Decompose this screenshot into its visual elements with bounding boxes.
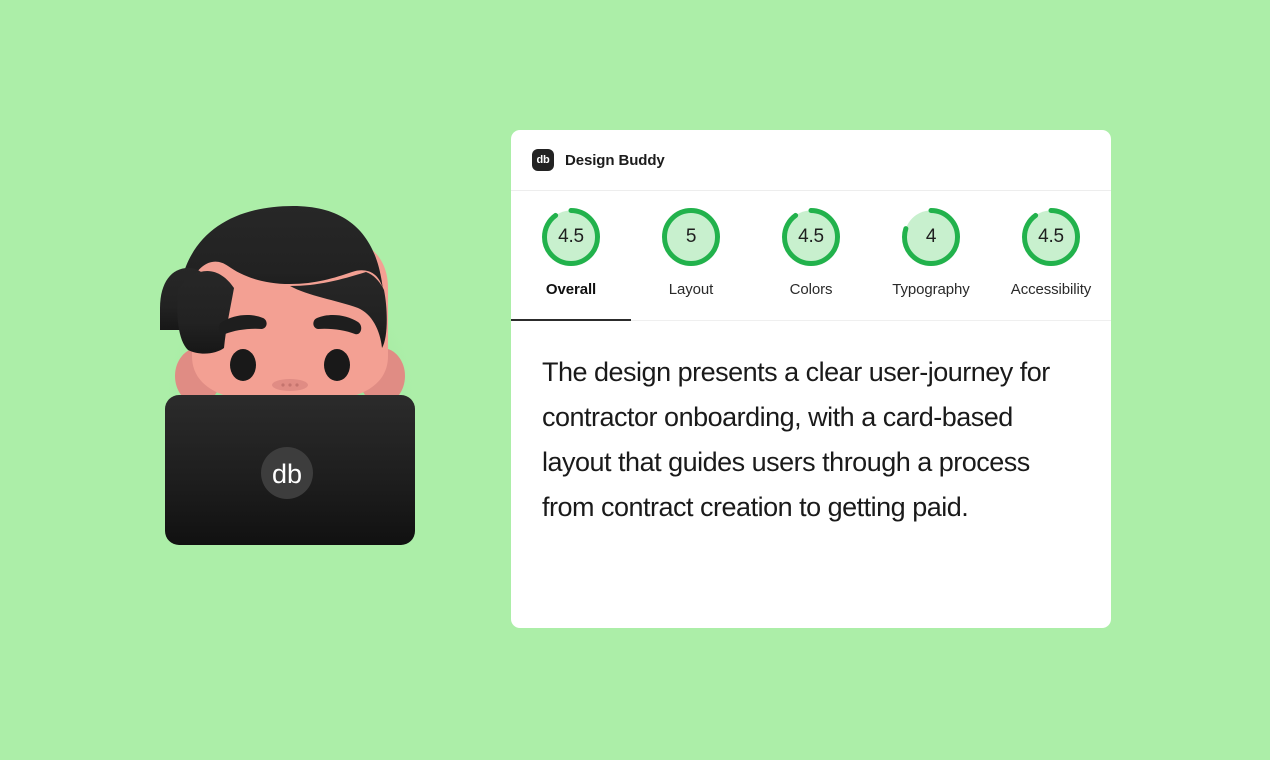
tab-label-overall: Overall [546,281,596,298]
score-ring-accessibility: 4.5 [1019,205,1083,269]
tab-layout[interactable]: 5 Layout [631,191,751,321]
card-header: db Design Buddy [511,130,1111,191]
score-value-layout: 5 [659,205,723,269]
tab-label-colors: Colors [790,281,833,298]
score-ring-colors: 4.5 [779,205,843,269]
tab-typography[interactable]: 4 Typography [871,191,991,321]
tab-label-accessibility: Accessibility [1011,281,1091,298]
score-value-colors: 4.5 [779,205,843,269]
score-value-typography: 4 [899,205,963,269]
tab-active-underline [511,319,631,321]
tab-underline [631,319,751,321]
score-ring-typography: 4 [899,205,963,269]
eye-right [324,349,350,381]
score-ring-layout: 5 [659,205,723,269]
tab-accessibility[interactable]: 4.5 Accessibility [991,191,1111,321]
analysis-text: The design presents a clear user-journey… [542,350,1077,530]
person-at-laptop-illustration: db [130,180,460,570]
laptop-badge-label: db [272,459,302,489]
score-value-overall: 4.5 [539,205,603,269]
card-body: The design presents a clear user-journey… [511,321,1111,530]
tab-label-layout: Layout [669,281,713,298]
score-tabs: 4.5 Overall 5 Layout [511,191,1111,321]
logo-label: db [536,155,549,166]
score-value-accessibility: 4.5 [1019,205,1083,269]
design-buddy-card: db Design Buddy 4.5 Overall [511,130,1111,628]
tab-underline [871,319,991,321]
tab-colors[interactable]: 4.5 Colors [751,191,871,321]
app-title: Design Buddy [565,152,665,169]
tab-label-typography: Typography [892,281,969,298]
screen: db db Design Buddy 4.5 Overall [0,0,1270,760]
tab-underline [991,319,1111,321]
eye-left [230,349,256,381]
design-buddy-logo-icon: db [532,149,554,171]
tab-overall[interactable]: 4.5 Overall [511,191,631,321]
tab-underline [751,319,871,321]
score-ring-overall: 4.5 [539,205,603,269]
